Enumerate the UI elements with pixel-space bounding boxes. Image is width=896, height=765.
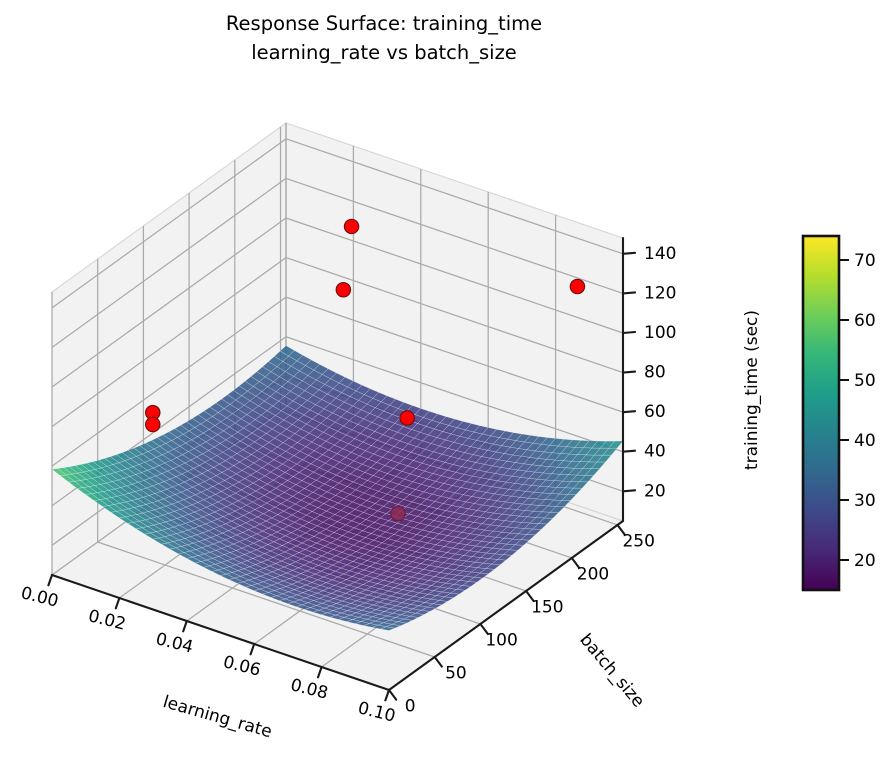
z-tick-label: 20: [644, 481, 666, 501]
z-tick-label: 40: [644, 442, 666, 462]
x-tickmark: [385, 690, 389, 700]
x-axis-name: learning_rate: [161, 692, 275, 742]
x-tickmark: [48, 575, 52, 585]
title-line-1: Response Surface: training_time: [226, 12, 542, 35]
z-tickmark: [623, 451, 635, 452]
scatter-point[interactable]: [344, 219, 358, 233]
y-tick-label: 200: [577, 565, 609, 585]
z-tickmark: [623, 411, 635, 412]
colorbar-tick-label: 40: [854, 431, 876, 451]
surface-plot-svg: Response Surface: training_time learning…: [0, 0, 896, 765]
colorbar-ticks: 203040506070: [839, 251, 876, 571]
z-tickmark: [623, 292, 635, 293]
y-axis-name: batch_size: [575, 630, 648, 711]
scatter-point[interactable]: [336, 283, 350, 297]
y-tick-label: 100: [485, 631, 517, 651]
x-tick-label: 0.02: [86, 606, 128, 635]
z-tick-label: 140: [644, 244, 676, 264]
y-tick-label: 0: [405, 697, 416, 717]
colorbar-tick-label: 70: [854, 251, 876, 271]
z-axis-name: training_time (sec): [742, 310, 762, 470]
z-tick-label: 60: [644, 402, 666, 422]
z-tickmark: [623, 490, 635, 491]
colorbar[interactable]: 203040506070: [803, 236, 876, 590]
x-tick-label: 0.00: [19, 583, 61, 612]
colorbar-tick-label: 50: [854, 371, 876, 391]
z-tickmark: [623, 253, 635, 254]
z-tick-label: 100: [644, 323, 676, 343]
scatter-point[interactable]: [146, 417, 160, 431]
title-line-2: learning_rate vs batch_size: [251, 41, 517, 64]
x-tick-label: 0.04: [154, 629, 196, 658]
z-tick-label: 80: [644, 363, 666, 383]
x-tick-label: 0.08: [288, 675, 330, 704]
scatter-point[interactable]: [570, 279, 584, 293]
y-tick-label: 250: [622, 532, 654, 552]
colorbar-gradient: [803, 236, 839, 590]
x-tickmark: [183, 621, 187, 631]
x-tickmark: [251, 644, 255, 654]
y-tick-label: 150: [531, 598, 563, 618]
y-tickmark: [435, 657, 442, 667]
colorbar-tick-label: 60: [854, 311, 876, 331]
x-tick-label: 0.06: [221, 652, 263, 681]
x-tickmark: [318, 667, 322, 677]
scatter-point[interactable]: [391, 506, 405, 520]
y-tickmark: [389, 690, 396, 700]
figure-canvas: Response Surface: training_time learning…: [0, 0, 896, 765]
z-tickmark: [623, 372, 635, 373]
z-tickmark: [623, 332, 635, 333]
x-tick-label: 0.10: [356, 698, 398, 727]
y-tick-label: 50: [445, 664, 467, 684]
colorbar-tick-label: 30: [854, 491, 876, 511]
z-tick-label: 120: [644, 283, 676, 303]
scatter-point[interactable]: [400, 411, 414, 425]
x-tickmark: [116, 598, 120, 608]
colorbar-tick-label: 20: [854, 551, 876, 571]
plot-title: Response Surface: training_time learning…: [226, 12, 542, 64]
